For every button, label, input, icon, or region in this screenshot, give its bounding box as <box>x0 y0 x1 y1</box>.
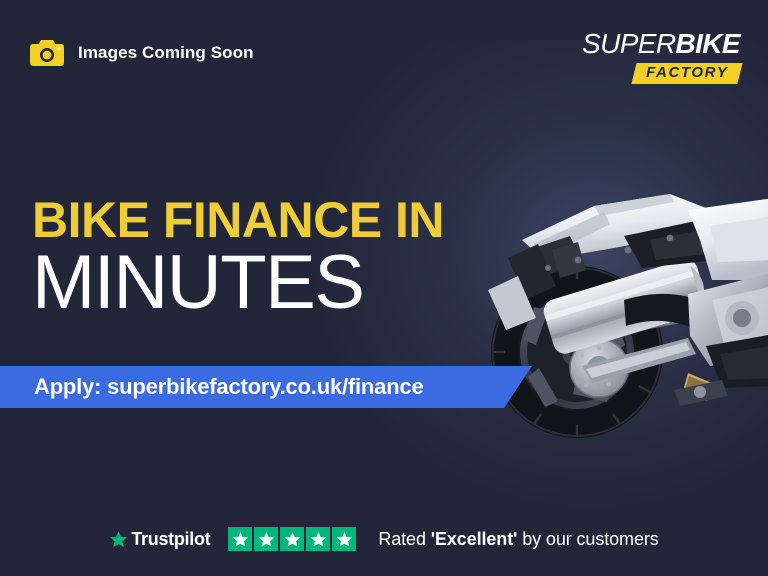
star-icon <box>310 531 327 548</box>
apply-url-text: Apply: superbikefactory.co.uk/finance <box>34 374 424 400</box>
logo-wordmark: SUPERBIKE <box>582 30 740 58</box>
trustpilot-footer: Trustpilot Rated 'Excellent' by our cust… <box>0 502 768 576</box>
star-icon <box>232 531 249 548</box>
headline-line-2: MINUTES <box>32 246 444 320</box>
star-icon <box>336 531 353 548</box>
rating-star-1 <box>228 527 252 551</box>
trustpilot-rating-text: Rated 'Excellent' by our customers <box>378 529 658 550</box>
logo-bike-text: BIKE <box>676 28 741 59</box>
headline-line-1: BIKE FINANCE IN <box>32 196 444 244</box>
trustpilot-brand: Trustpilot <box>109 529 210 550</box>
images-coming-soon-notice: Images Coming Soon <box>30 40 254 66</box>
images-coming-soon-label: Images Coming Soon <box>78 43 254 63</box>
camera-icon <box>30 40 64 66</box>
logo-super-text: SUPER <box>582 28 675 59</box>
promo-banner: Images Coming Soon SUPERBIKE FACTORY BIK… <box>0 0 768 576</box>
rating-star-2 <box>254 527 278 551</box>
rating-star-3 <box>280 527 304 551</box>
trustpilot-rating-stars <box>228 527 356 551</box>
rated-suffix: by our customers <box>517 529 658 549</box>
trustpilot-star-icon <box>109 530 128 549</box>
star-icon <box>258 531 275 548</box>
rated-emphasis: 'Excellent' <box>431 529 518 549</box>
rating-star-4 <box>306 527 330 551</box>
logo-factory-text: FACTORY <box>646 65 728 81</box>
superbike-factory-logo: SUPERBIKE FACTORY <box>582 30 740 84</box>
star-icon <box>284 531 301 548</box>
trustpilot-wordmark: Trustpilot <box>131 529 210 550</box>
apply-url-banner[interactable]: Apply: superbikefactory.co.uk/finance <box>0 366 532 408</box>
rated-prefix: Rated <box>378 529 430 549</box>
headline-block: BIKE FINANCE IN MINUTES <box>32 196 444 320</box>
motorcycle-image <box>474 140 768 460</box>
logo-factory-banner: FACTORY <box>631 63 743 84</box>
rating-star-5 <box>332 527 356 551</box>
